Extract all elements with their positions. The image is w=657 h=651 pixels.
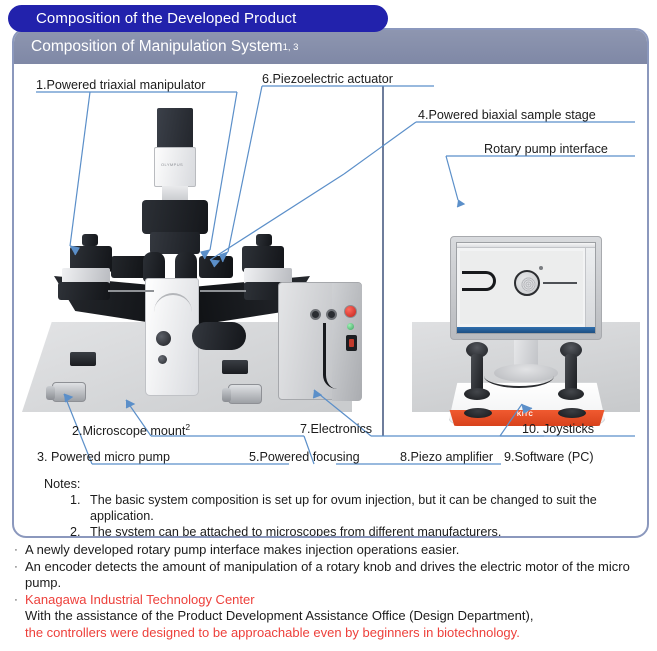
callout-leader-lines-lower [14, 64, 647, 469]
slide-title-text: Composition of the Developed Product [36, 10, 296, 27]
note-number: 1. [70, 493, 84, 524]
bullet-text-highlight: Kanagawa Industrial Technology Center [25, 592, 255, 609]
bullet-text: An encoder detects the amount of manipul… [25, 559, 652, 592]
callout-5-powered-focusing: 5.Powered focusing [249, 450, 360, 464]
callout-1-powered-triaxial-manipulator: 1.Powered triaxial manipulator [36, 78, 205, 92]
bullet-text: A newly developed rotary pump interface … [25, 542, 459, 559]
callout-9-software-pc: 9.Software (PC) [504, 450, 594, 464]
bullet-row: · A newly developed rotary pump interfac… [12, 542, 652, 559]
callout-3-powered-micro-pump: 3. Powered micro pump [37, 450, 170, 464]
summary-bullets: · A newly developed rotary pump interfac… [12, 542, 652, 641]
panel-header: Composition of Manipulation System1, 3 [14, 30, 647, 64]
callout-7-electronics: 7.Electronics [300, 422, 372, 436]
note-text: The basic system composition is set up f… [90, 493, 644, 524]
callout-6-piezoelectric-actuator: 6.Piezoelectric actuator [262, 72, 393, 86]
composition-panel: Composition of Manipulation System1, 3 [12, 28, 649, 538]
notes-block: Notes: 1. The basic system composition i… [44, 477, 644, 538]
panel-header-text: Composition of Manipulation System [31, 38, 283, 56]
callout-10-joysticks: 10. Joysticks [522, 422, 594, 436]
callout-8-piezo-amplifier: 8.Piezo amplifier [400, 450, 493, 464]
bullet-dot-icon: · [12, 559, 20, 592]
bullet-row: · Kanagawa Industrial Technology Center [12, 592, 652, 609]
note-item: 2. The system can be attached to microsc… [70, 525, 644, 538]
slide-root: Composition of the Developed Product Com… [0, 0, 657, 651]
panel-header-footnote: 1, 3 [283, 42, 299, 53]
note-item: 1. The basic system composition is set u… [70, 493, 644, 524]
slide-title-badge: Composition of the Developed Product [8, 5, 388, 32]
callout-rotary-pump-interface: Rotary pump interface [484, 142, 608, 156]
footer-line-black: With the assistance of the Product Devel… [12, 608, 652, 625]
bullet-row: · An encoder detects the amount of manip… [12, 559, 652, 592]
notes-title: Notes: [44, 477, 644, 491]
footer-line-red: the controllers were designed to be appr… [12, 625, 652, 642]
note-text: The system can be attached to microscope… [90, 525, 501, 538]
callout-2-microscope-mount: 2.Microscope mount2 [72, 422, 190, 438]
notes-list: 1. The basic system composition is set u… [44, 493, 644, 538]
bullet-dot-icon: · [12, 542, 20, 559]
bullet-dot-icon: · [12, 592, 20, 609]
callout-4-powered-biaxial-sample-stage: 4.Powered biaxial sample stage [418, 108, 596, 122]
note-number: 2. [70, 525, 84, 538]
system-diagram: KITC [14, 64, 647, 469]
